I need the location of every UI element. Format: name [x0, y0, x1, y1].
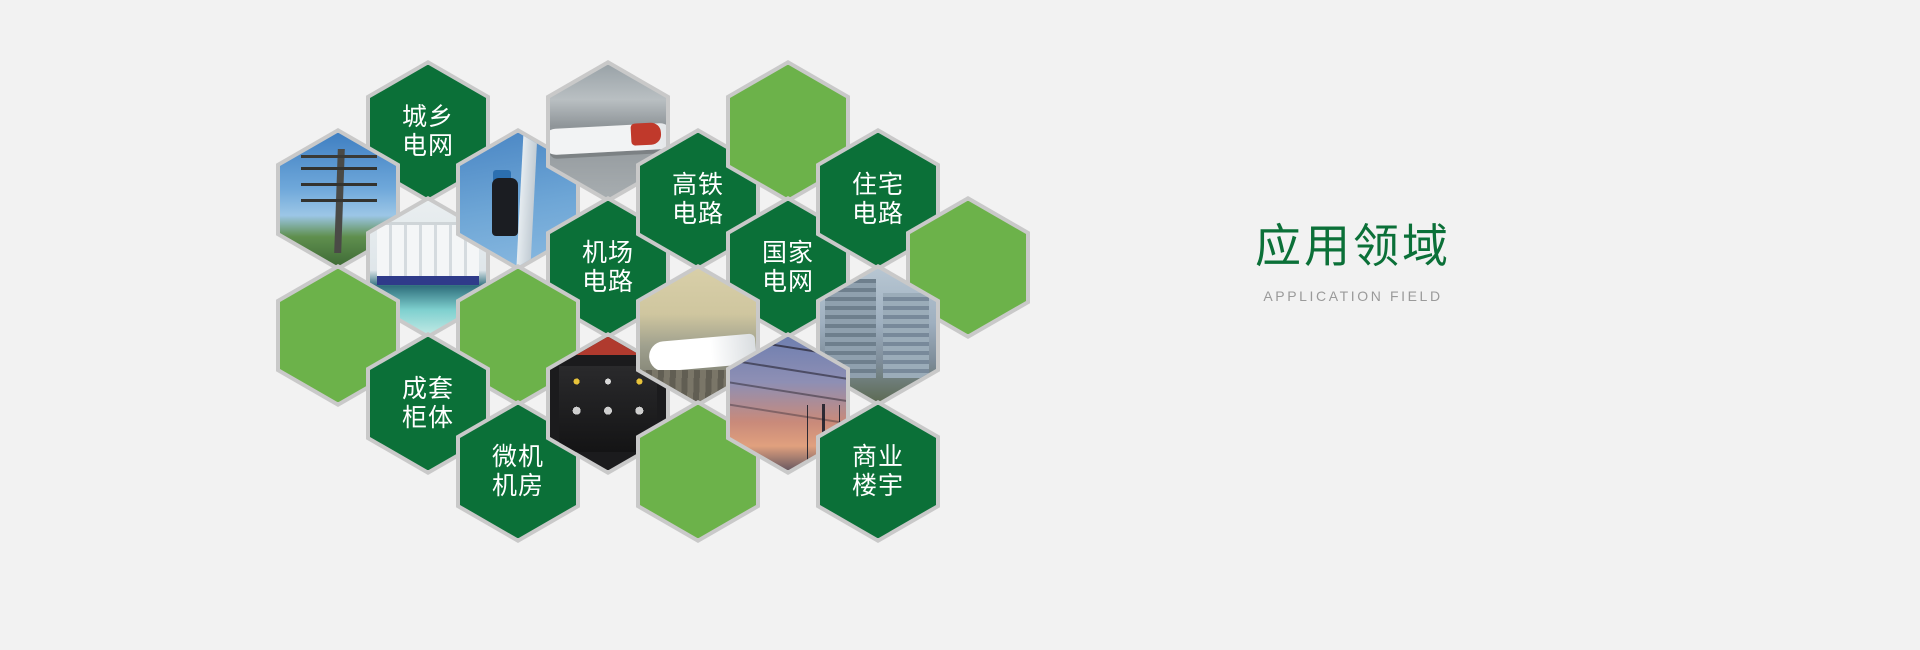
hex-label: 住宅 电路 — [852, 170, 904, 229]
hex-label: 机场 电路 — [582, 238, 634, 297]
hex-label: 高铁 电路 — [672, 170, 724, 229]
hex-label: 成套 柜体 — [402, 374, 454, 433]
hex-label: 城乡 电网 — [402, 102, 454, 161]
heading-block: 应用领域 APPLICATION FIELD — [1143, 222, 1563, 304]
page-subtitle: APPLICATION FIELD — [1143, 288, 1563, 304]
hex-inner: 商业 楼宇 — [820, 405, 936, 539]
hex-label: 商业 楼宇 — [852, 442, 904, 501]
hex-label: 国家 电网 — [762, 238, 814, 297]
hex-label: 微机 机房 — [492, 442, 544, 501]
page-title: 应用领域 — [1143, 222, 1563, 272]
honeycomb-grid: 城乡 电网机场 电路高铁 电路国家 电网住宅 电路成套 柜体微机 机房商业 楼宇 — [0, 0, 1150, 650]
application-field-banner: 城乡 电网机场 电路高铁 电路国家 电网住宅 电路成套 柜体微机 机房商业 楼宇… — [0, 0, 1920, 650]
